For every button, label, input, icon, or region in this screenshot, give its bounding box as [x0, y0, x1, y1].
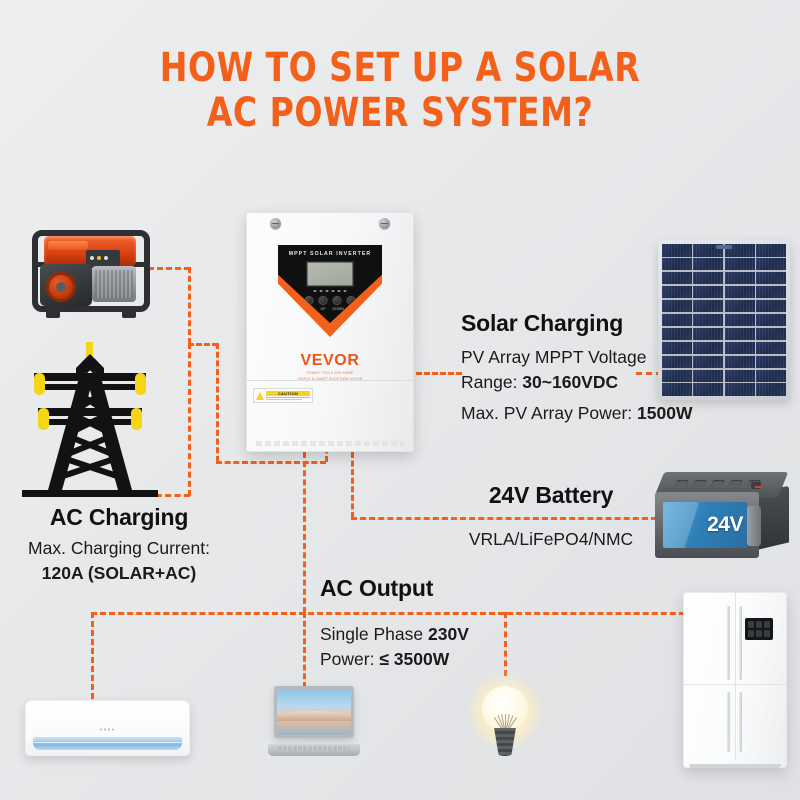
transmission-tower-icon — [14, 340, 166, 502]
infographic-canvas: HOW TO SET UP A SOLAR AC POWER SYSTEM? M… — [0, 0, 800, 800]
solar-charging-line-2: Range: 30~160VDC — [461, 370, 692, 395]
connector-ac-charging-rail — [216, 461, 326, 464]
solar-charging-line-3: Max. PV Array Power: 1500W — [461, 401, 692, 426]
down-button[interactable] — [333, 296, 342, 305]
generator-tank-stripe — [48, 241, 88, 250]
battery-label: 24V — [663, 502, 747, 548]
laptop — [268, 686, 360, 756]
brand-tagline-2: SIMPLE & SMART SHOP NOW VEVOR — [246, 377, 414, 382]
solar-charging-line-1: PV Array MPPT Voltage — [461, 345, 692, 370]
connector-generator-vertical — [188, 267, 191, 344]
connector-drop-laptop — [303, 612, 306, 688]
battery-heading: 24V Battery — [448, 482, 654, 509]
lcd-display[interactable] — [306, 261, 354, 287]
caution-text: CAUTION — [266, 391, 310, 396]
battery-front: 24V — [655, 492, 759, 558]
refrigerator-door-split-vertical — [735, 592, 736, 760]
refrigerator-handle — [739, 692, 742, 752]
battery-voltage-badge: 24V — [707, 513, 743, 537]
mppt-solar-inverter[interactable]: MPPT SOLAR INVERTER ESC UP DOWN ENTER — [246, 212, 414, 452]
ac-charging-line-1: Max. Charging Current: — [8, 536, 230, 561]
junction-box-icon — [716, 245, 732, 249]
ac-unit-vent — [33, 737, 182, 750]
solar-range-value: 30~160VDC — [522, 372, 618, 392]
connector-battery-riser — [351, 452, 354, 518]
generator-foot — [122, 310, 136, 318]
faceplate-dark-shape: MPPT SOLAR INVERTER ESC UP DOWN ENTER — [278, 245, 382, 323]
connector-ac-charging-bus — [216, 343, 219, 462]
ac-charging-block: AC Charging Max. Charging Current: 120A … — [8, 504, 230, 587]
title-line-2: AC POWER SYSTEM? — [32, 91, 768, 136]
generator-foot — [46, 310, 60, 318]
solar-charging-block: Solar Charging PV Array MPPT Voltage Ran… — [461, 310, 692, 426]
refrigerator-handle — [727, 692, 730, 752]
refrigerator — [683, 592, 787, 768]
ac-unit-brand: ●●●● — [99, 727, 115, 733]
ac-output-power-value: ≤ 3500W — [379, 649, 449, 669]
brand-name: VEVOR — [246, 352, 414, 370]
screw-icon — [270, 218, 281, 229]
inverter-vents — [256, 441, 404, 446]
battery-unit: 24V — [653, 470, 793, 568]
connector-drop-ac-unit — [91, 612, 94, 699]
up-button[interactable] — [319, 296, 328, 305]
warning-triangle-icon — [256, 392, 264, 400]
generator-flywheel — [46, 272, 76, 302]
inverter-model-label: MPPT SOLAR INVERTER — [278, 251, 382, 257]
solar-power-value: 1500W — [637, 403, 692, 423]
control-button-row[interactable] — [305, 296, 356, 305]
solar-charging-heading: Solar Charging — [461, 310, 692, 337]
laptop-keyboard-base — [268, 744, 360, 756]
title-line-1: HOW TO SET UP A SOLAR — [32, 46, 768, 91]
ac-output-phase-label: Single Phase — [320, 624, 428, 644]
ac-charging-heading: AC Charging — [8, 504, 230, 531]
ac-output-block: AC Output Single Phase 230V Power: ≤ 350… — [320, 575, 469, 673]
ac-output-line-2: Power: ≤ 3500W — [320, 647, 469, 672]
battery-terminal — [751, 482, 761, 489]
solar-range-label: Range: — [461, 372, 522, 392]
refrigerator-control-panel[interactable] — [745, 618, 773, 640]
screw-icon — [379, 218, 390, 229]
portable-generator — [30, 222, 152, 318]
brand-logo: VEVOR POWER TOOLS AND MORE SIMPLE & SMAR… — [246, 352, 414, 382]
ac-output-voltage-value: 230V — [428, 624, 469, 644]
ac-charging-current-value: 120A (SOLAR+AC) — [42, 563, 196, 583]
refrigerator-door-split-horizontal — [683, 684, 787, 685]
ac-output-line-1: Single Phase 230V — [320, 622, 469, 647]
connector-solar-horizontal — [416, 372, 462, 375]
connector-generator-to-bus — [188, 343, 218, 346]
ac-output-power-label: Power: — [320, 649, 379, 669]
generator-alternator — [92, 266, 136, 302]
caution-label-sticker: CAUTION — [253, 388, 313, 403]
battery-block: 24V Battery VRLA/LiFePO4/NMC — [448, 482, 654, 552]
brand-tagline-1: POWER TOOLS AND MORE — [246, 371, 414, 376]
laptop-screen — [277, 689, 351, 735]
laptop-lid — [274, 686, 354, 738]
refrigerator-handle — [739, 606, 742, 680]
down-button-label: DOWN — [333, 307, 342, 311]
battery-chemistry-line: VRLA/LiFePO4/NMC — [448, 527, 654, 552]
air-conditioner: ●●●● — [25, 700, 190, 756]
battery-cylinder-detail — [747, 506, 761, 546]
connector-drop-bulb — [504, 612, 507, 676]
connector-generator-horizontal — [148, 267, 190, 270]
connector-output-drop — [303, 452, 306, 613]
status-led-row — [314, 290, 347, 292]
connector-tower-vertical — [188, 343, 191, 496]
solar-power-label: Max. PV Array Power: — [461, 403, 637, 423]
up-button-label: UP — [319, 307, 328, 311]
refrigerator-handle — [727, 606, 730, 680]
inverter-faceplate: MPPT SOLAR INVERTER ESC UP DOWN ENTER — [278, 245, 382, 337]
ac-output-heading: AC Output — [320, 575, 469, 602]
light-bulb — [468, 672, 542, 764]
refrigerator-base — [689, 764, 781, 768]
page-title: HOW TO SET UP A SOLAR AC POWER SYSTEM? — [0, 46, 800, 136]
